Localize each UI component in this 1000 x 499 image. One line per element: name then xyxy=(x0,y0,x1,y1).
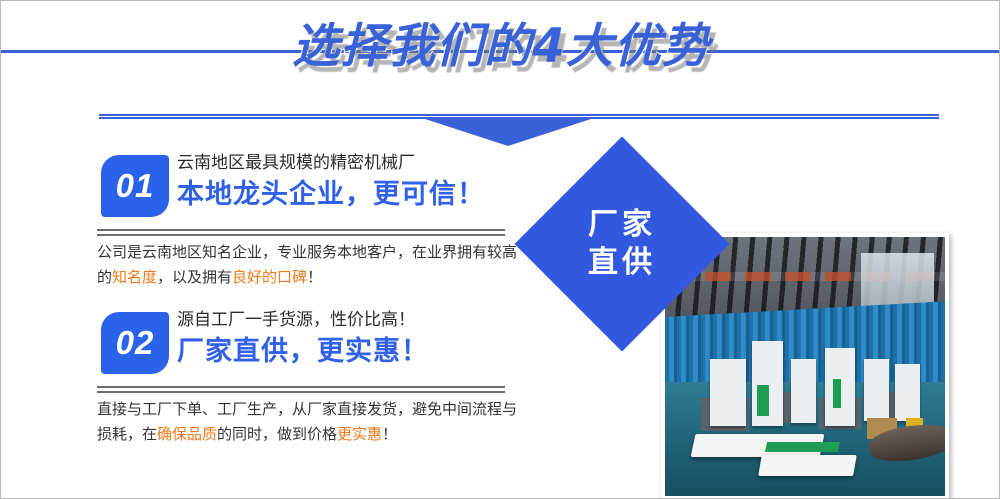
advantages-list: 01 云南地区最具规模的精密机械厂 本地龙头企业，更可信！ 公司是云南地区知名企… xyxy=(1,151,546,499)
dashed-separator xyxy=(97,386,505,393)
advantage-item-02: 02 源自工厂一手货源，性价比高！ 厂家直供，更实惠！ 直接与工厂下单、工厂生产… xyxy=(1,308,546,447)
machine-bed xyxy=(758,455,857,476)
advantage-body: 公司是云南地区知名企业，专业服务本地客户，在业界拥有较高的知名度，以及拥有良好的… xyxy=(97,240,517,290)
body-text: ！ xyxy=(382,426,397,443)
advantage-subtitle: 源自工厂一手货源，性价比高！ xyxy=(177,308,527,332)
page-title: 选择我们的4大优势 xyxy=(1,7,1000,76)
machine-green-rail xyxy=(765,442,840,452)
body-text: 的同时，做到价格 xyxy=(217,426,337,443)
advantage-number-badge: 02 xyxy=(101,312,169,374)
factory-photo-image xyxy=(665,237,945,496)
machine-green-part xyxy=(757,385,768,416)
cnc-machine xyxy=(895,364,920,421)
advantage-heading-group: 源自工厂一手货源，性价比高！ 厂家直供，更实惠！ xyxy=(177,308,527,368)
cnc-machine xyxy=(710,359,746,426)
body-text: ！ xyxy=(307,269,322,286)
dashed-separator xyxy=(97,229,505,236)
advantage-header: 02 源自工厂一手货源，性价比高！ 厂家直供，更实惠！ xyxy=(1,308,546,380)
advantage-heading-group: 云南地区最具规模的精密机械厂 本地龙头企业，更可信！ xyxy=(177,151,527,211)
advantage-item-01: 01 云南地区最具规模的精密机械厂 本地龙头企业，更可信！ 公司是云南地区知名企… xyxy=(1,151,546,290)
advantage-header: 01 云南地区最具规模的精密机械厂 本地龙头企业，更可信！ xyxy=(1,151,546,223)
advantage-body: 直接与工厂下单、工厂生产，从厂家直接发货，避免中间流程与损耗，在确保品质的同时，… xyxy=(97,397,517,447)
advantage-subtitle: 云南地区最具规模的精密机械厂 xyxy=(177,151,527,175)
advantage-number-badge: 01 xyxy=(101,155,169,217)
highlight-text: 更实惠 xyxy=(337,426,382,443)
highlight-text: 良好的口碑 xyxy=(232,269,307,286)
promo-banner: 选择我们的4大优势 01 云南地区最具规模的精密机械厂 本地龙头企业，更可信！ … xyxy=(0,0,1000,499)
body-text: ，以及拥有 xyxy=(157,269,232,286)
down-triangle-icon xyxy=(425,119,591,146)
cnc-machine xyxy=(791,359,816,424)
advantage-title: 厂家直供，更实惠！ xyxy=(177,334,527,368)
advantage-title: 本地龙头企业，更可信！ xyxy=(177,177,527,211)
highlight-text: 确保品质 xyxy=(157,426,217,443)
machine-green-part xyxy=(833,379,841,407)
factory-photo xyxy=(661,233,949,499)
highlight-text: 知名度 xyxy=(112,269,157,286)
cnc-machine xyxy=(864,359,889,421)
